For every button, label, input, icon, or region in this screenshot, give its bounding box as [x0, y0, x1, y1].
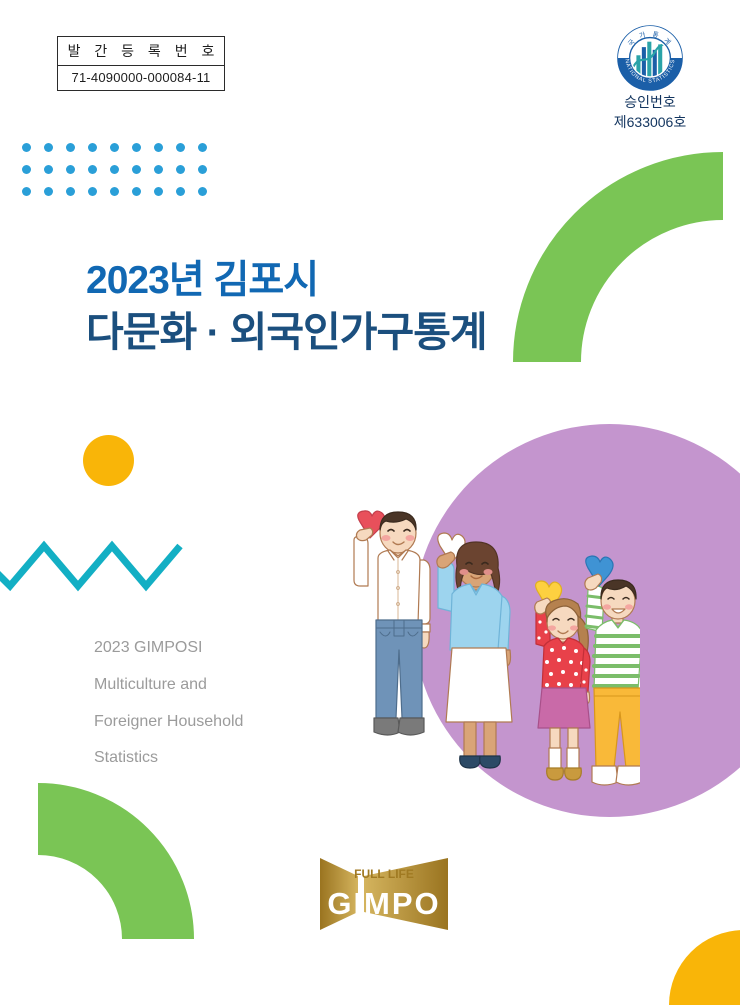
- father-figure: [354, 511, 430, 735]
- amber-circle-icon: [83, 435, 134, 486]
- gimpo-city-logo-icon: FULL LIFE GIMPO: [318, 856, 450, 932]
- daughter-figure: [535, 581, 590, 780]
- approval-label: 승인번호: [588, 92, 712, 112]
- subtitle-line-3: Foreigner Household: [94, 704, 354, 741]
- subtitle-line-1: 2023 GIMPOSI: [94, 630, 354, 667]
- title-line-subject: 다문화 · 외국인가구통계: [86, 306, 646, 359]
- subtitle-line-4: Statistics: [94, 740, 354, 777]
- cover-title: 2023년 김포시 다문화 · 외국인가구통계: [86, 256, 646, 359]
- gimpo-tagline: FULL LIFE: [354, 867, 414, 881]
- national-statistics-seal-icon: 국 가 통 계 NATIONAL STATISTICS: [616, 24, 684, 92]
- registration-title: 발 간 등 록 번 호: [58, 37, 224, 66]
- approval-number: 제633006호: [588, 112, 712, 132]
- blue-dot-grid-icon: [22, 143, 220, 209]
- publication-registration-box: 발 간 등 록 번 호 71-4090000-000084-11: [57, 36, 225, 91]
- green-quarter-ring-bottom-left-icon: [0, 783, 194, 1005]
- national-statistics-block: 국 가 통 계 NATIONAL STATISTICS 승인번호 제633006…: [588, 24, 712, 133]
- amber-circle-corner-icon: [669, 930, 740, 1005]
- report-cover-page: 발 간 등 록 번 호 71-4090000-000084-11: [0, 0, 740, 1005]
- multicultural-family-illustration: [330, 500, 640, 800]
- registration-number: 71-4090000-000084-11: [58, 66, 224, 90]
- cover-subtitle-english: 2023 GIMPOSI Multiculture and Foreigner …: [94, 630, 354, 777]
- title-line-year-city: 2023년 김포시: [86, 256, 646, 306]
- son-figure: [585, 556, 640, 785]
- cyan-zigzag-line-icon: [0, 538, 185, 594]
- gimpo-wordmark: GIMPO: [327, 886, 440, 921]
- subtitle-line-2: Multiculture and: [94, 667, 354, 704]
- mother-figure: [437, 533, 512, 768]
